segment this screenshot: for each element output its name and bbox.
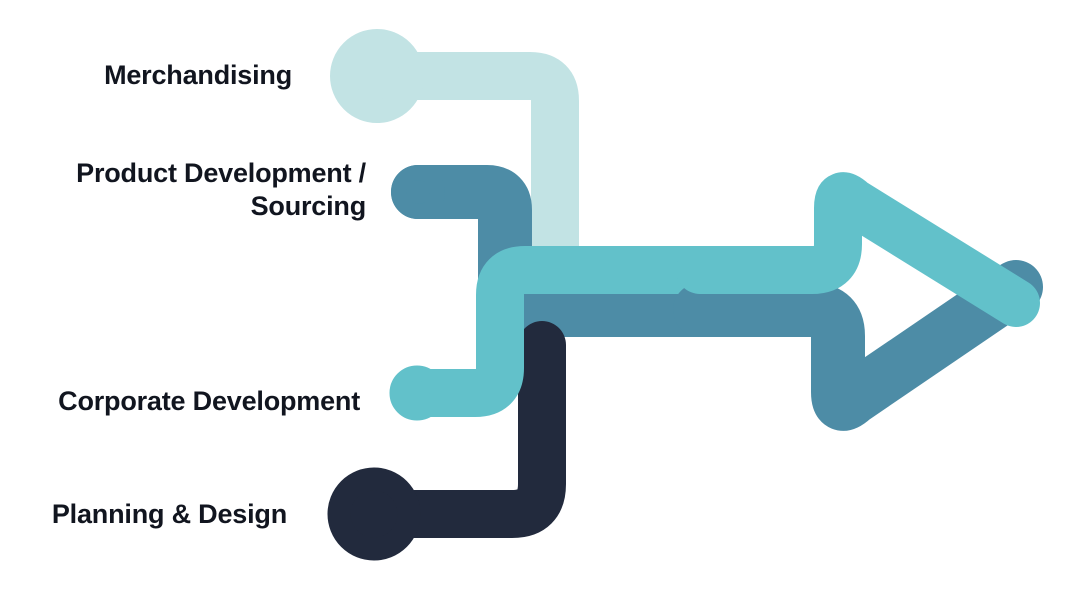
- branch-label-product-development: Product Development / Sourcing: [0, 157, 366, 223]
- branch-label-corporate-development: Corporate Development: [0, 385, 360, 418]
- flow-labels: Merchandising Product Development / Sour…: [0, 0, 1082, 593]
- flow-diagram: Merchandising Product Development / Sour…: [0, 0, 1082, 593]
- branch-label-merchandising: Merchandising: [0, 59, 292, 92]
- branch-label-planning-design: Planning & Design: [0, 498, 287, 531]
